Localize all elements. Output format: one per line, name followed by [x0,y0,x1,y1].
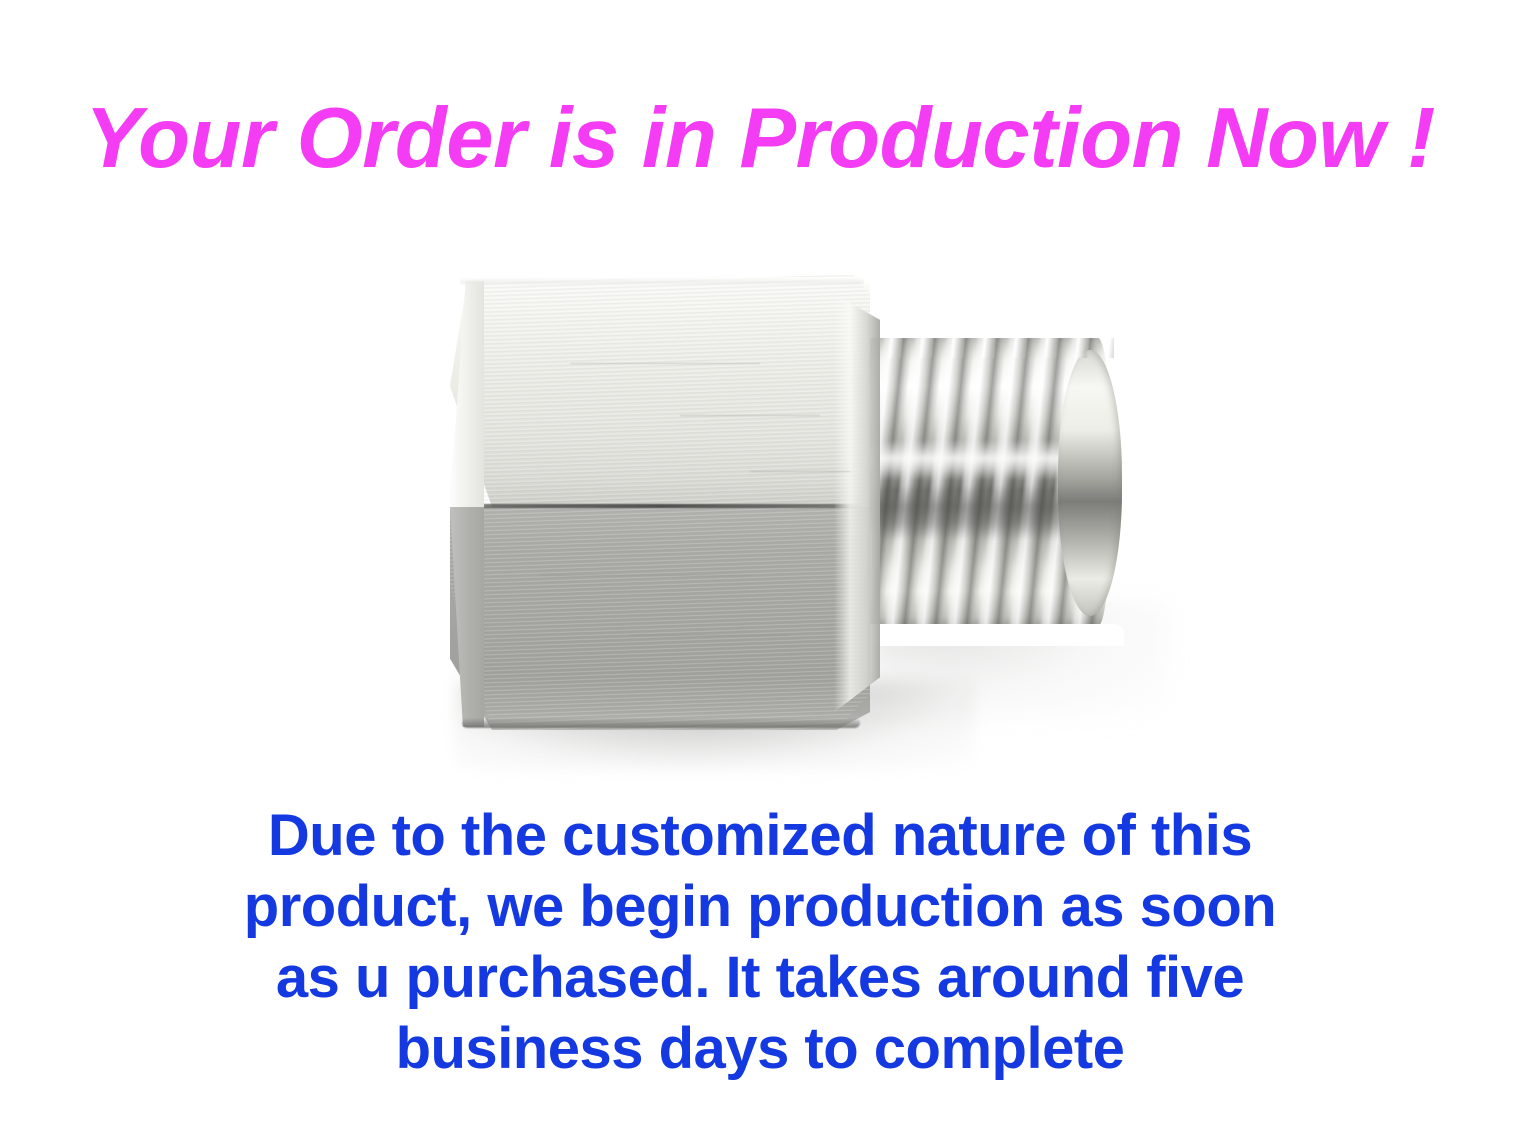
hex-scratch-mark [750,471,850,472]
hex-bottom-rim-shadow [462,718,860,728]
hex-scratch-mark [680,415,820,416]
hex-brushed-texture [450,275,870,730]
hex-facet-edge [454,504,866,508]
hex-body-female-end [450,275,870,730]
promo-banner-page: Your Order is in Production Now ! [0,0,1520,1140]
notice-line: Due to the customized nature of this [0,800,1520,871]
hex-top-rim-highlight [460,277,864,286]
hex-scratch-mark [570,363,760,364]
thread-end-cap [1058,350,1122,616]
notice-line: product, we begin production as soon [0,871,1520,942]
product-photo [400,250,1200,790]
notice-line: as u purchased. It takes around five [0,942,1520,1013]
hex-right-shoulder [834,285,880,721]
production-notice-text: Due to the customized nature of this pro… [0,800,1520,1084]
page-title: Your Order is in Production Now ! [0,96,1520,181]
hex-scratch-mark [540,575,750,576]
hex-scratch-mark [630,635,790,636]
notice-line: business days to complete [0,1013,1520,1084]
